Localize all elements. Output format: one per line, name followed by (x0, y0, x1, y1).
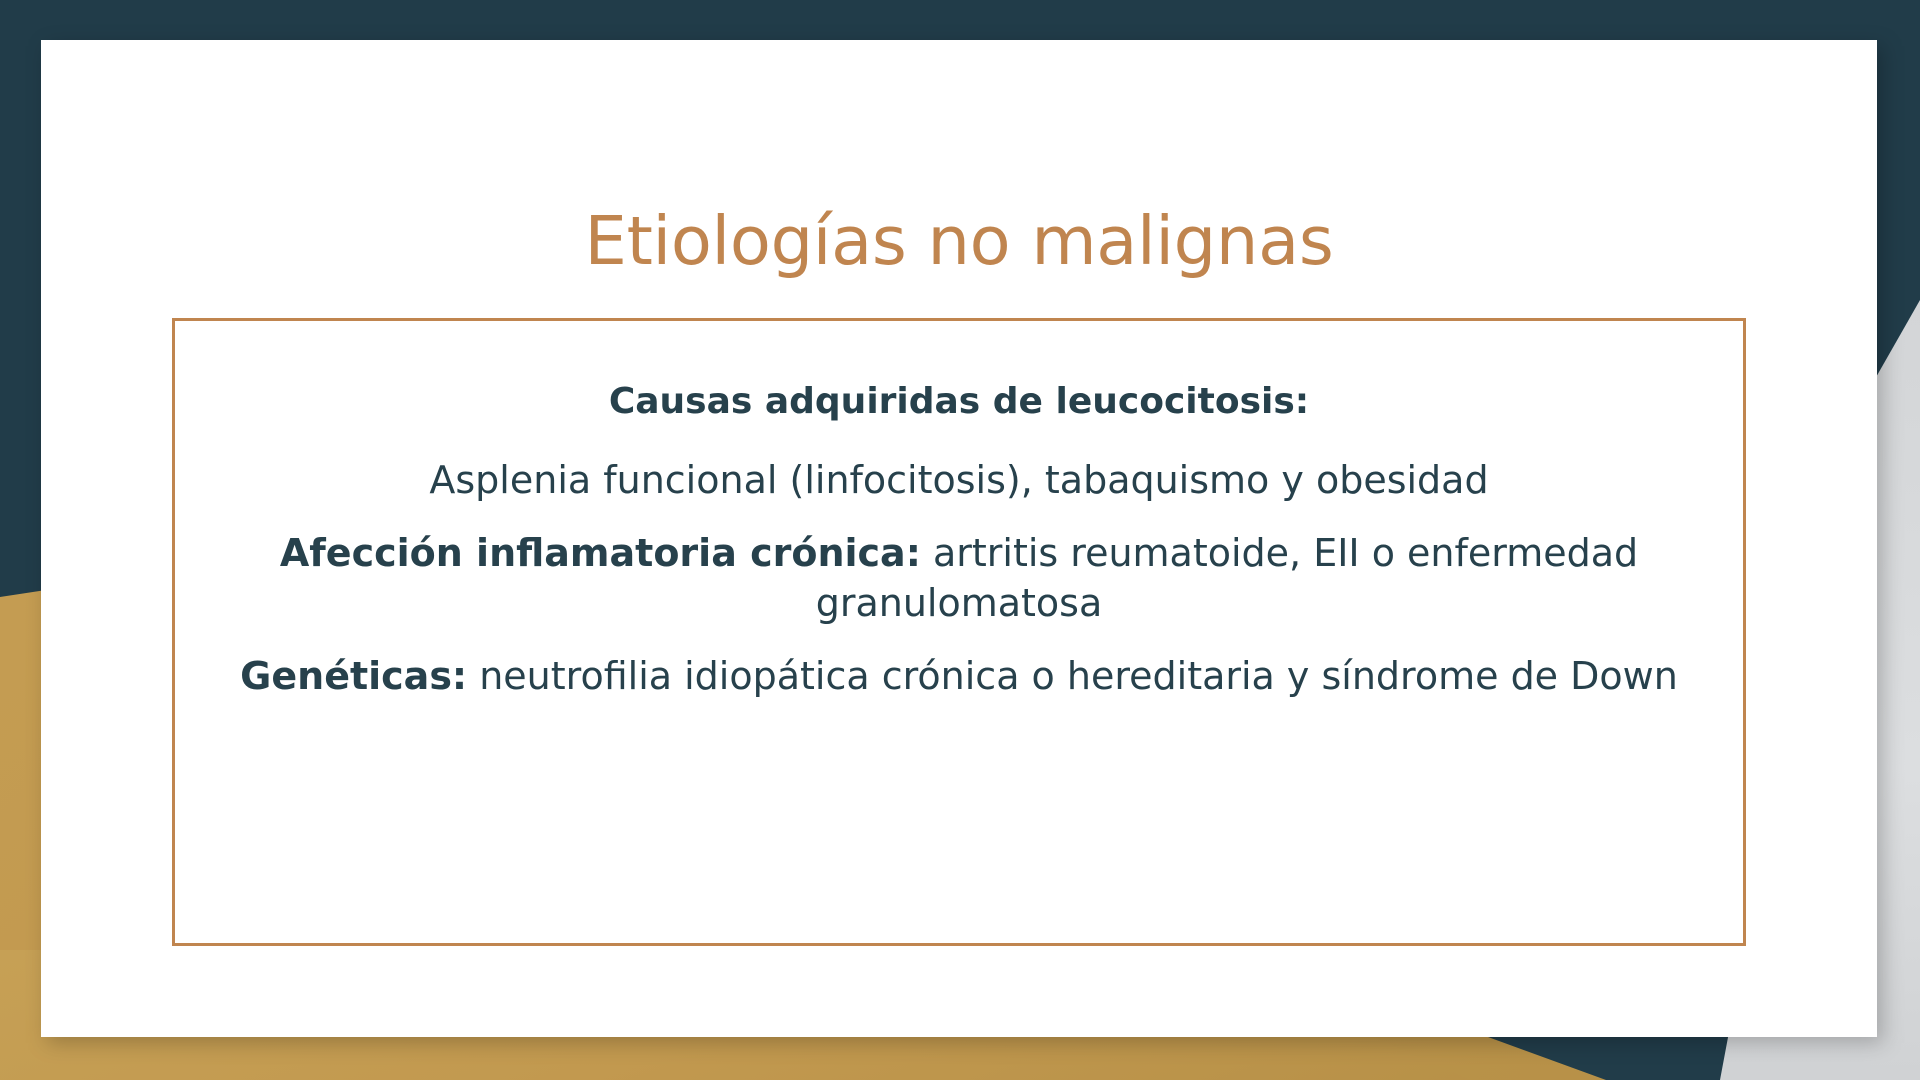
paragraph-body: Asplenia funcional (linfocitosis), tabaq… (429, 458, 1488, 502)
list-item: Genéticas: neutrofilia idiopática crónic… (213, 652, 1705, 701)
paragraph-lead: Afección inflamatoria crónica: (280, 531, 921, 575)
list-item: Causas adquiridas de leucocitosis: (213, 379, 1705, 426)
slide-card: Etiologías no malignas Causas adquiridas… (41, 40, 1877, 1037)
bordered-content-box: Causas adquiridas de leucocitosis: Asple… (172, 318, 1746, 946)
page-title: Etiologías no malignas (41, 204, 1877, 279)
content-text-block: Causas adquiridas de leucocitosis: Asple… (213, 379, 1705, 701)
paragraph-body: neutrofilia idiopática crónica o heredit… (467, 654, 1678, 698)
presentation-slide: Etiologías no malignas Causas adquiridas… (0, 0, 1920, 1080)
paragraph-body: artritis reumatoide, EII o enfermedad gr… (816, 531, 1638, 624)
paragraph-lead: Genéticas: (240, 654, 467, 698)
list-item: Afección inflamatoria crónica: artritis … (213, 529, 1705, 628)
paragraph-lead: Causas adquiridas de leucocitosis: (609, 381, 1309, 422)
list-item: Asplenia funcional (linfocitosis), tabaq… (213, 456, 1705, 505)
